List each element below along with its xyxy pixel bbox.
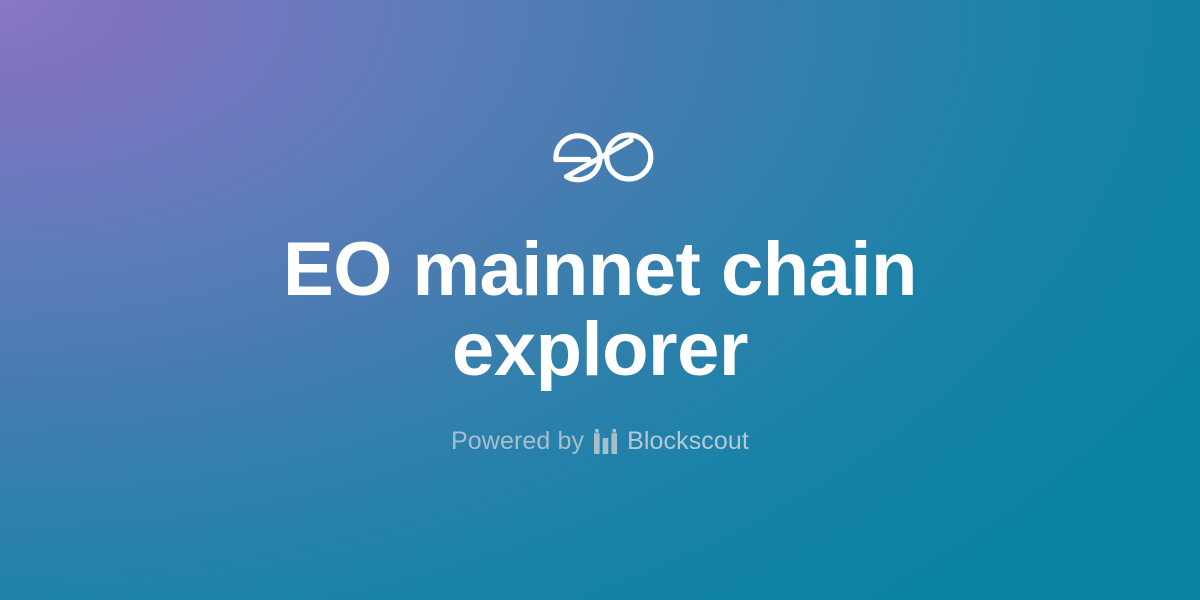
page-title-line-1: EO mainnet chain: [283, 227, 917, 312]
page-title-line-2: explorer: [452, 307, 748, 392]
blockscout-icon: [594, 429, 617, 454]
page-title: EO mainnet chain explorer: [100, 230, 1100, 390]
splash-screen: EO mainnet chain explorer Powered by Blo…: [0, 0, 1200, 600]
powered-by-blockscout[interactable]: Powered by Blockscout: [451, 427, 749, 455]
blockscout-icon-glyph: [594, 429, 617, 454]
eo-infinity-logo-glyph: [545, 126, 655, 188]
blockscout-wordmark: Blockscout: [627, 427, 749, 455]
eo-infinity-logo: [545, 126, 655, 188]
powered-by-label: Powered by: [451, 427, 584, 455]
